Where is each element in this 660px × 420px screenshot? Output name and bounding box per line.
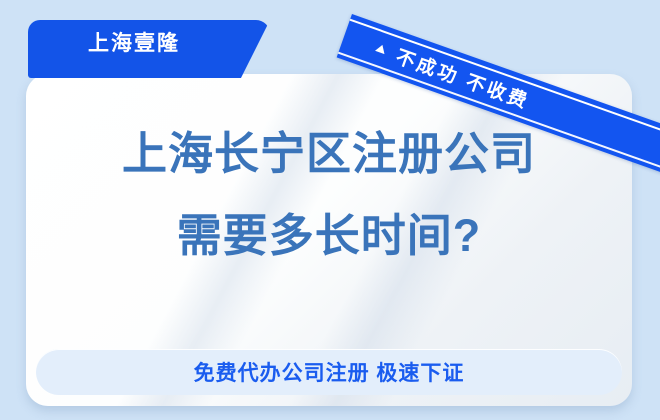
footer-pill-label: 免费代办公司注册 极速下证 (194, 357, 465, 387)
headline: 上海长宁区注册公司 需要多长时间? (26, 118, 632, 272)
triangle-up-icon (375, 43, 387, 54)
poster-banner: 上海壹隆 不成功 不收费 上海长宁区注册公司 需要多长时间? 免费代办公司注册 … (0, 0, 660, 420)
headline-line-2: 需要多长时间? (26, 200, 632, 272)
footer-pill[interactable]: 免费代办公司注册 极速下证 (36, 349, 622, 395)
brand-tab-label: 上海壹隆 (28, 20, 240, 68)
brand-tab[interactable]: 上海壹隆 (28, 20, 270, 78)
